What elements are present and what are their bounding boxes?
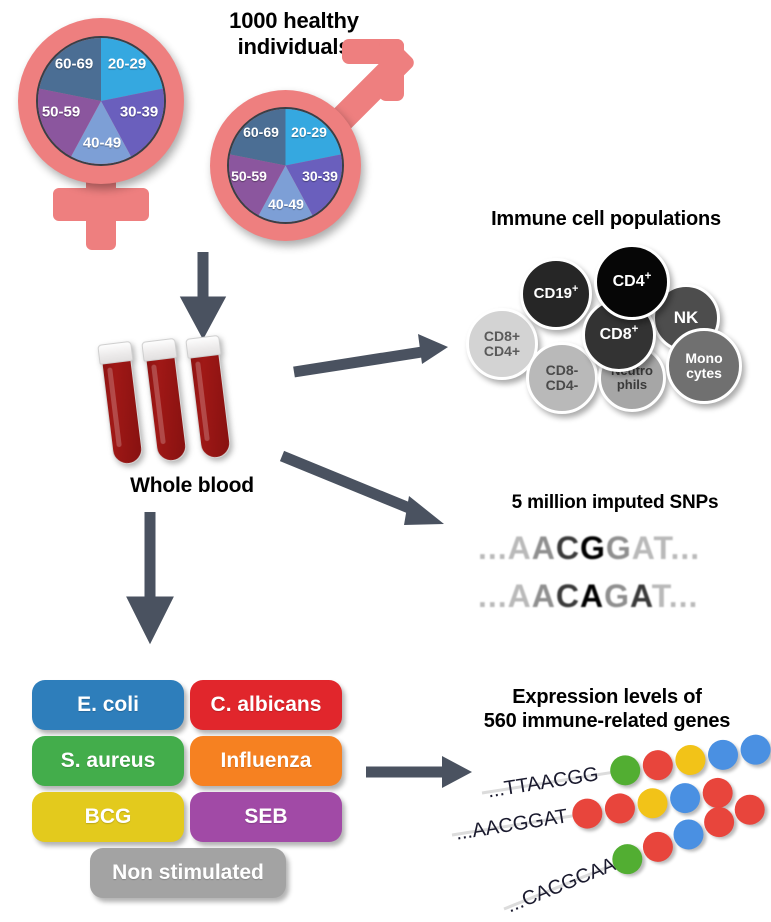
cell-label-sup: + xyxy=(645,270,652,282)
expression-heading: Expression levels of 560 immune-related … xyxy=(452,686,762,733)
stimulus-label: SEB xyxy=(244,805,287,829)
cell-label: CD19+ xyxy=(534,286,579,302)
immune-cell-monocytes: Mono cytes xyxy=(666,328,742,404)
snp-sequence-top: ...AACGGAT... xyxy=(478,530,700,567)
pie-label-60-69: 60-69 xyxy=(55,56,93,73)
cell-label: CD8+ CD4+ xyxy=(484,329,520,359)
gene-bead xyxy=(668,781,702,815)
pie-label-20-29: 20-29 xyxy=(108,56,146,73)
male-gender-symbol: 20-29 30-39 40-49 50-59 60-69 xyxy=(205,30,420,245)
snps-heading: 5 million imputed SNPs xyxy=(470,492,760,514)
stimuli-panel: E. coli C. albicans S. aureus Influenza … xyxy=(32,680,342,890)
stimulus-label: Influenza xyxy=(220,749,311,773)
cell-label: NK xyxy=(674,309,699,327)
pie-label-30-39: 30-39 xyxy=(120,104,158,121)
gene-bead xyxy=(608,753,642,787)
snp-sequences: ...AACGGAT... ...AACAGAT... xyxy=(478,530,758,620)
snp-variant-bottom: A xyxy=(580,578,604,614)
figure-canvas: 20-29 30-39 40-49 50-59 60-69 1000 healt… xyxy=(0,0,771,922)
pie-label-40-49: 40-49 xyxy=(268,196,304,212)
whole-blood-tubes xyxy=(112,334,272,474)
gene-bead xyxy=(570,796,604,830)
immune-cells-heading: Immune cell populations xyxy=(446,208,766,232)
gene-bead xyxy=(730,790,769,829)
arrow-cohort-to-blood xyxy=(178,252,228,338)
blood-tube xyxy=(185,335,234,460)
gene-bead xyxy=(700,803,739,842)
pie-label-30-39: 30-39 xyxy=(302,168,338,184)
stimulus-label: Non stimulated xyxy=(112,861,264,885)
snp-variant-top: G xyxy=(580,530,606,566)
stimulus-c-albicans[interactable]: C. albicans xyxy=(190,680,342,730)
arrow-blood-to-snps xyxy=(278,448,450,540)
stimulus-influenza[interactable]: Influenza xyxy=(190,736,342,786)
stimulus-label: S. aureus xyxy=(61,749,156,773)
gene-bead xyxy=(706,738,740,772)
stimulus-non-stimulated[interactable]: Non stimulated xyxy=(90,848,286,898)
strand-sequence: ...CACGCAA xyxy=(503,854,619,919)
cell-label: CD8+ xyxy=(600,327,639,344)
expression-heading-line2: 560 immune-related genes xyxy=(452,710,762,734)
pie-label-50-59: 50-59 xyxy=(231,168,267,184)
cell-label: CD4+ xyxy=(613,274,652,291)
cell-label-text: CD19 xyxy=(534,285,572,302)
stimulus-label: C. albicans xyxy=(211,693,322,717)
female-gender-symbol: 20-29 30-39 40-49 50-59 60-69 xyxy=(8,10,198,260)
cell-label-sup: + xyxy=(632,323,639,335)
pie-label-40-49: 40-49 xyxy=(83,135,121,152)
female-symbol-crossbar xyxy=(53,188,149,221)
expression-heading-line1: Expression levels of xyxy=(452,686,762,710)
gene-bead xyxy=(673,743,707,777)
blood-tube-rim xyxy=(97,341,133,365)
snp-sequence-bottom: ...AACAGAT... xyxy=(478,578,698,615)
gene-bead xyxy=(641,748,675,782)
whole-blood-label: Whole blood xyxy=(82,474,302,499)
gene-bead xyxy=(738,733,771,767)
stimulus-label: E. coli xyxy=(77,693,139,717)
arrow-blood-to-stimuli xyxy=(125,512,175,640)
gene-bead xyxy=(669,815,708,854)
blood-tube xyxy=(97,341,146,466)
gene-bead xyxy=(638,827,677,866)
male-symbol-arrowhead-side xyxy=(379,39,404,101)
cell-label-text: CD8 xyxy=(600,326,632,343)
pie-label-20-29: 20-29 xyxy=(291,124,327,140)
blood-tube xyxy=(141,338,190,463)
stimulus-e-coli[interactable]: E. coli xyxy=(32,680,184,730)
strand-sequence: ...AACGGAT xyxy=(454,805,569,845)
gene-bead xyxy=(603,791,637,825)
cell-label-text: CD4 xyxy=(613,273,645,290)
gene-expression-strands: ...TTAACGG ...AACGGAT ...CACGCAA xyxy=(460,740,771,915)
immune-cell-CD19plus: CD19+ xyxy=(520,258,592,330)
pie-label-50-59: 50-59 xyxy=(42,104,80,121)
immune-cell-CD4plus: CD4+ xyxy=(594,244,670,320)
blood-tube-rim xyxy=(141,338,177,362)
arrow-blood-to-immune-cells xyxy=(292,328,452,380)
stimulus-s-aureus[interactable]: S. aureus xyxy=(32,736,184,786)
blood-tube-rim xyxy=(185,335,221,359)
stimulus-seb[interactable]: SEB xyxy=(190,792,342,842)
cell-label: Mono cytes xyxy=(685,351,722,381)
gene-bead xyxy=(635,786,669,820)
stimulus-bcg[interactable]: BCG xyxy=(32,792,184,842)
cell-label-sup: + xyxy=(572,283,578,295)
immune-cell-cluster: CD8+ CD4+ CD8- CD4- Neutro phils NK Mono… xyxy=(466,244,766,419)
cell-label: CD8- CD4- xyxy=(546,363,579,393)
pie-label-60-69: 60-69 xyxy=(243,124,279,140)
stimulus-label: BCG xyxy=(85,805,132,829)
